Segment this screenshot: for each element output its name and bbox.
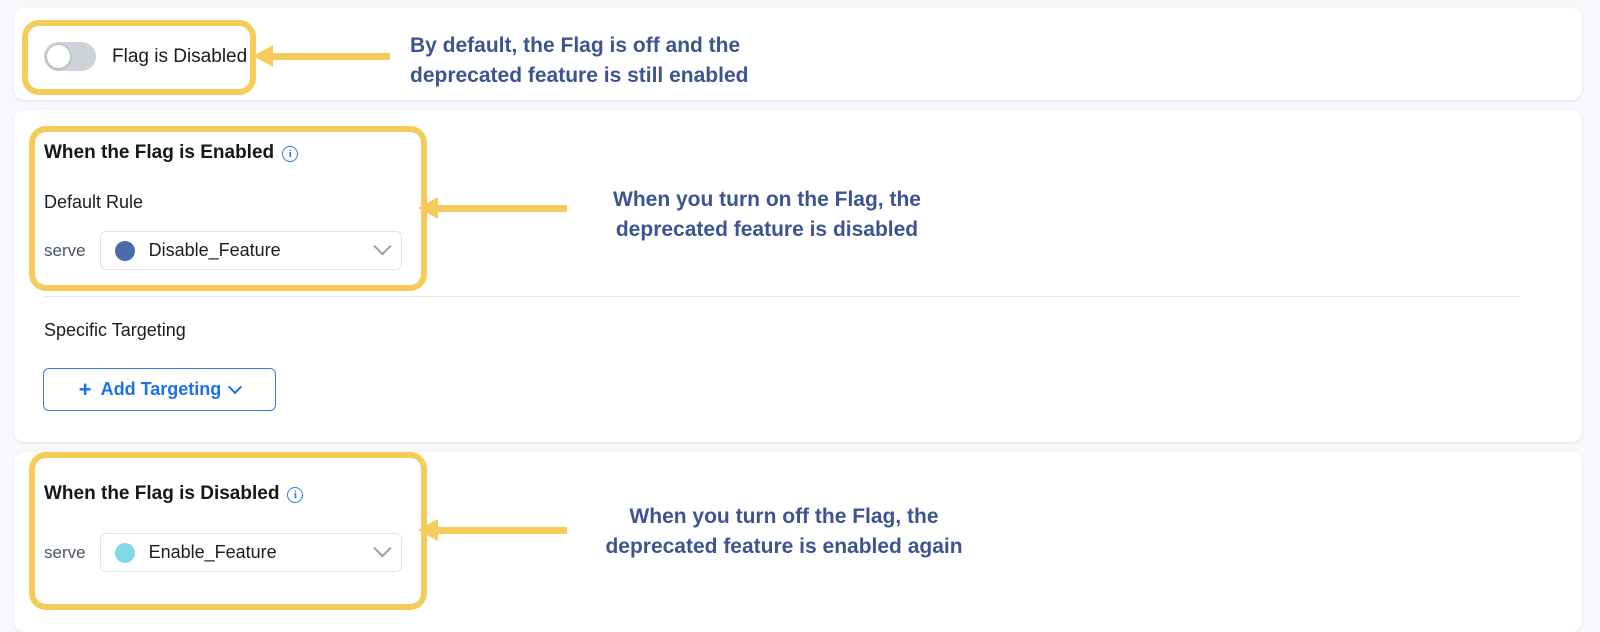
chevron-down-icon xyxy=(228,380,242,394)
annotation-text-toggle: By default, the Flag is off and the depr… xyxy=(410,31,820,91)
serve-label-disabled: serve xyxy=(44,543,86,563)
annotation-text-disabled: When you turn off the Flag, the deprecat… xyxy=(570,502,998,562)
default-rule-label: Default Rule xyxy=(44,192,143,213)
serve-label-enabled: serve xyxy=(44,241,86,261)
off-variation-dropdown[interactable]: Enable_Feature xyxy=(100,533,402,572)
enabled-heading-text: When the Flag is Enabled xyxy=(44,142,274,164)
chevron-down-icon xyxy=(373,539,391,557)
left-arrow-icon xyxy=(437,527,567,534)
flag-toggle-row[interactable]: Flag is Disabled xyxy=(44,42,247,71)
disabled-heading-text: When the Flag is Disabled xyxy=(44,483,279,505)
default-rule-variation-value: Disable_Feature xyxy=(149,240,362,261)
variation-color-swatch xyxy=(115,543,135,563)
feature-flag-settings-page: Flag is Disabled When the Flag is Enable… xyxy=(0,0,1600,632)
add-targeting-label: Add Targeting xyxy=(101,379,222,400)
default-rule-serve-row: serve Disable_Feature xyxy=(44,231,402,270)
disabled-section-heading: When the Flag is Disabled i xyxy=(44,483,303,505)
disabled-serve-row: serve Enable_Feature xyxy=(44,533,402,572)
left-arrow-icon xyxy=(272,53,390,60)
flag-toggle-switch[interactable] xyxy=(44,42,96,71)
off-variation-value: Enable_Feature xyxy=(149,542,362,563)
default-rule-variation-dropdown[interactable]: Disable_Feature xyxy=(100,231,402,270)
annotation-text-enabled: When you turn on the Flag, the deprecate… xyxy=(578,185,956,245)
variation-color-swatch xyxy=(115,241,135,261)
section-divider xyxy=(44,296,1520,297)
left-arrow-icon xyxy=(437,205,567,212)
info-circle-icon[interactable]: i xyxy=(287,487,303,503)
enabled-section-heading: When the Flag is Enabled i xyxy=(44,142,298,164)
plus-icon: + xyxy=(79,379,92,401)
info-circle-icon[interactable]: i xyxy=(282,146,298,162)
flag-toggle-label: Flag is Disabled xyxy=(112,46,247,68)
specific-targeting-label: Specific Targeting xyxy=(44,320,186,341)
chevron-down-icon xyxy=(373,237,391,255)
add-targeting-button[interactable]: + Add Targeting xyxy=(43,368,276,411)
toggle-knob xyxy=(46,44,71,69)
